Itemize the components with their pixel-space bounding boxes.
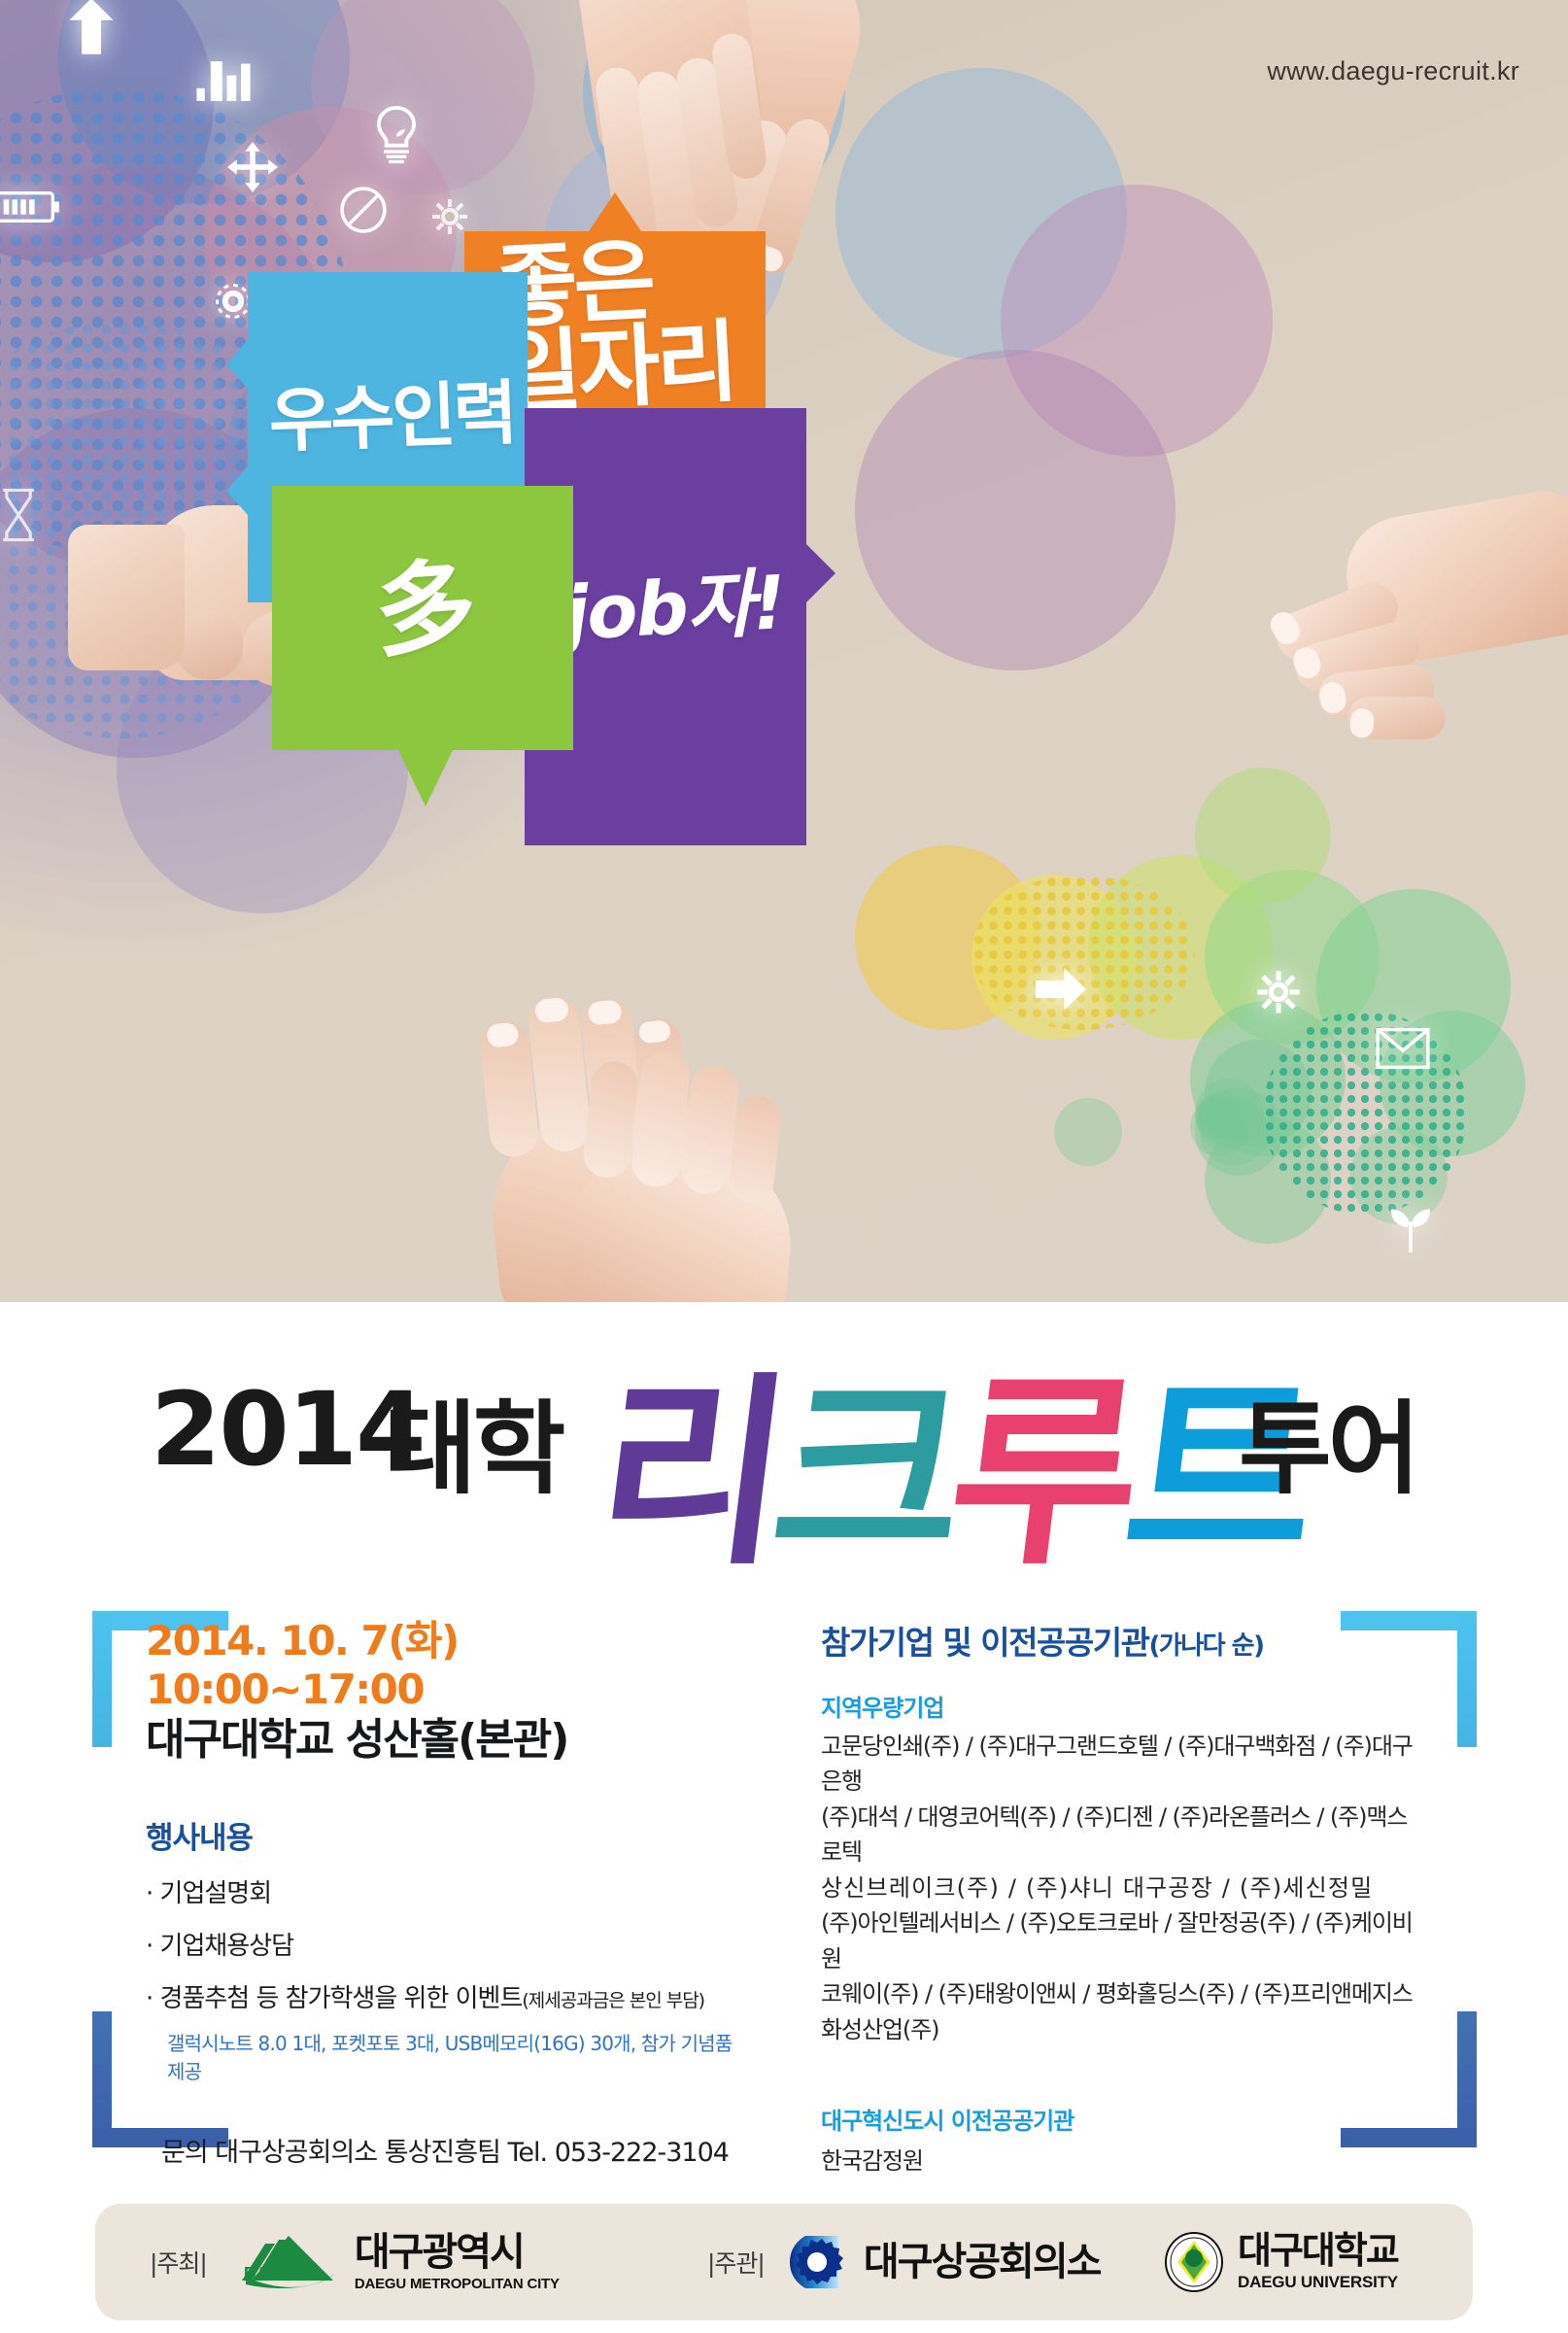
company-line: 고문당인쇄(주) / (주)대구그랜드호텔 / (주)대구백화점 / (주)대구… [821, 1729, 1423, 1800]
bokeh-circle [855, 350, 1176, 670]
footer-university-group: 대구대학교 DAEGU UNIVERSITY [1164, 2204, 1398, 2320]
title-univ: 대학 [384, 1366, 562, 1513]
daegu-city-logo-icon: DAEGU [232, 2232, 341, 2292]
move-arrows-icon [226, 141, 279, 193]
program-bullet: · 기업채용상담 [146, 1926, 748, 1962]
participants-heading: 참가기업 및 이전공공기관(가나다 순) [821, 1617, 1423, 1664]
event-date: 2014. 10. 7(화) 10:00~17:00 [146, 1617, 748, 1713]
bokeh-circle [1054, 1098, 1122, 1166]
info-right-column: 참가기업 및 이전공공기관(가나다 순) 지역우량기업 고문당인쇄(주) / (… [821, 1617, 1423, 2176]
daegu-university-seal-icon [1164, 2232, 1224, 2292]
university-name-kr: 대구대학교 [1238, 2232, 1398, 2269]
arrow-up-icon [64, 0, 119, 56]
poster-title: 2014 대학 리크루트 투어 [0, 1349, 1568, 1533]
participants-heading-suffix: (가나다 순) [1148, 1631, 1263, 1661]
halftone-dots [1263, 1011, 1467, 1215]
host-name-en: DAEGU METROPOLITAN CITY [355, 2276, 560, 2292]
leaf-icon [1384, 1200, 1437, 1254]
university-name-en: DAEGU UNIVERSITY [1238, 2273, 1398, 2292]
website-url[interactable]: www.daegu-recruit.kr [1267, 56, 1519, 86]
host-label: |주최| [150, 2245, 207, 2280]
company-line: 상신브레이크(주) / (주)샤니 대구공장 / (주)세신정밀 [821, 1870, 1423, 1905]
contact-line: 문의 대구상공회의소 통상진흥팀 Tel. 053-222-3104 [161, 2131, 748, 2169]
hero-banner: 좋은 일자리 우수인력 job자! 多 www.daegu-recruit.kr [0, 0, 1568, 1302]
organizer-name-kr: 대구상공회의소 [864, 2243, 1101, 2282]
gear-icon-green [1253, 967, 1304, 1017]
program-bullet-text: 기업채용상담 [160, 1932, 294, 1961]
agency-line: 한국감정원 [821, 2142, 1423, 2176]
program-bullet-text: 경품추첨 등 참가학생을 위한 이벤트 [160, 1984, 523, 2013]
lightbulb-icon [369, 105, 424, 163]
bubble-blue-text: 우수인력 [268, 380, 516, 456]
section-heading-program: 행사내용 [146, 1813, 748, 1857]
company-line: (주)아인텔레서비스 / (주)오토크로바 / 잘만정공(주) / (주)케이비… [821, 1905, 1423, 1976]
daegu-logo-text: DAEGU [244, 2264, 305, 2284]
bubble-orange-text: 좋은 일자리 [494, 232, 774, 418]
bokeh-circle [1203, 1097, 1230, 1124]
title-tour: 투어 [1239, 1366, 1416, 1513]
info-section: 2014. 10. 7(화) 10:00~17:00 대구대학교 성산홀(본관)… [0, 1594, 1568, 2177]
host-name-kr: 대구광역시 [355, 2233, 560, 2272]
footer-sponsors: |주최| DAEGU 대구광역시 DAEGU METROPOLITAN CITY… [95, 2204, 1473, 2320]
hand-bottom-right [493, 1042, 867, 1302]
program-bullet-note: (제세공과금은 본인 부담) [522, 1990, 704, 2011]
prize-list: 갤럭시노트 8.0 1대, 포켓포토 3대, USB메모리(16G) 30개, … [167, 2028, 748, 2084]
event-venue: 대구대학교 성산홀(본관) [146, 1715, 748, 1767]
company-line: 코웨이(주) / (주)태왕이앤씨 / 평화홀딩스(주) / (주)프리앤메지스 [821, 1976, 1423, 2011]
program-bullet: · 기업설명회 [146, 1873, 748, 1909]
bubble-purple-text: job자! [562, 567, 786, 650]
mail-icon [1375, 1025, 1431, 1072]
participants-heading-main: 참가기업 및 이전공공기관 [821, 1624, 1148, 1662]
footer-organizer-group: |주관| 대구상공회의소 [707, 2204, 1100, 2320]
battery-icon [0, 190, 61, 223]
bubble-green: 多 [272, 486, 573, 806]
hand-right [1221, 477, 1568, 825]
prohibited-icon [338, 185, 389, 235]
title-logo-recruit: 리크루트 [584, 1308, 1324, 1603]
poster: 좋은 일자리 우수인력 job자! 多 www.daegu-recruit.kr [0, 0, 1568, 2333]
subheading-relocated-agencies: 대구혁신도시 이전공공기관 [821, 2102, 1423, 2136]
arrow-right-icon [1035, 967, 1087, 1012]
company-line: (주)대석 / 대영코어텍(주) / (주)디젠 / (주)라온플러스 / (주… [821, 1800, 1423, 1870]
subheading-local-companies: 지역우량기업 [821, 1689, 1423, 1723]
chamber-gear-icon [788, 2234, 852, 2290]
program-bullet: · 경품추첨 등 참가학생을 위한 이벤트(제세공과금은 본인 부담) [146, 1978, 748, 2014]
company-line: 화성산업(주) [821, 2012, 1423, 2047]
organizer-label: |주관| [707, 2245, 765, 2280]
bar-chart-icon [194, 53, 253, 102]
footer-host-group: |주최| DAEGU 대구광역시 DAEGU METROPOLITAN CITY [150, 2204, 560, 2320]
info-left-column: 2014. 10. 7(화) 10:00~17:00 대구대학교 성산홀(본관)… [146, 1617, 748, 2169]
bubble-green-text: 多 [372, 559, 478, 663]
program-bullet-text: 기업설명회 [160, 1879, 272, 1908]
hourglass-icon [0, 486, 42, 544]
